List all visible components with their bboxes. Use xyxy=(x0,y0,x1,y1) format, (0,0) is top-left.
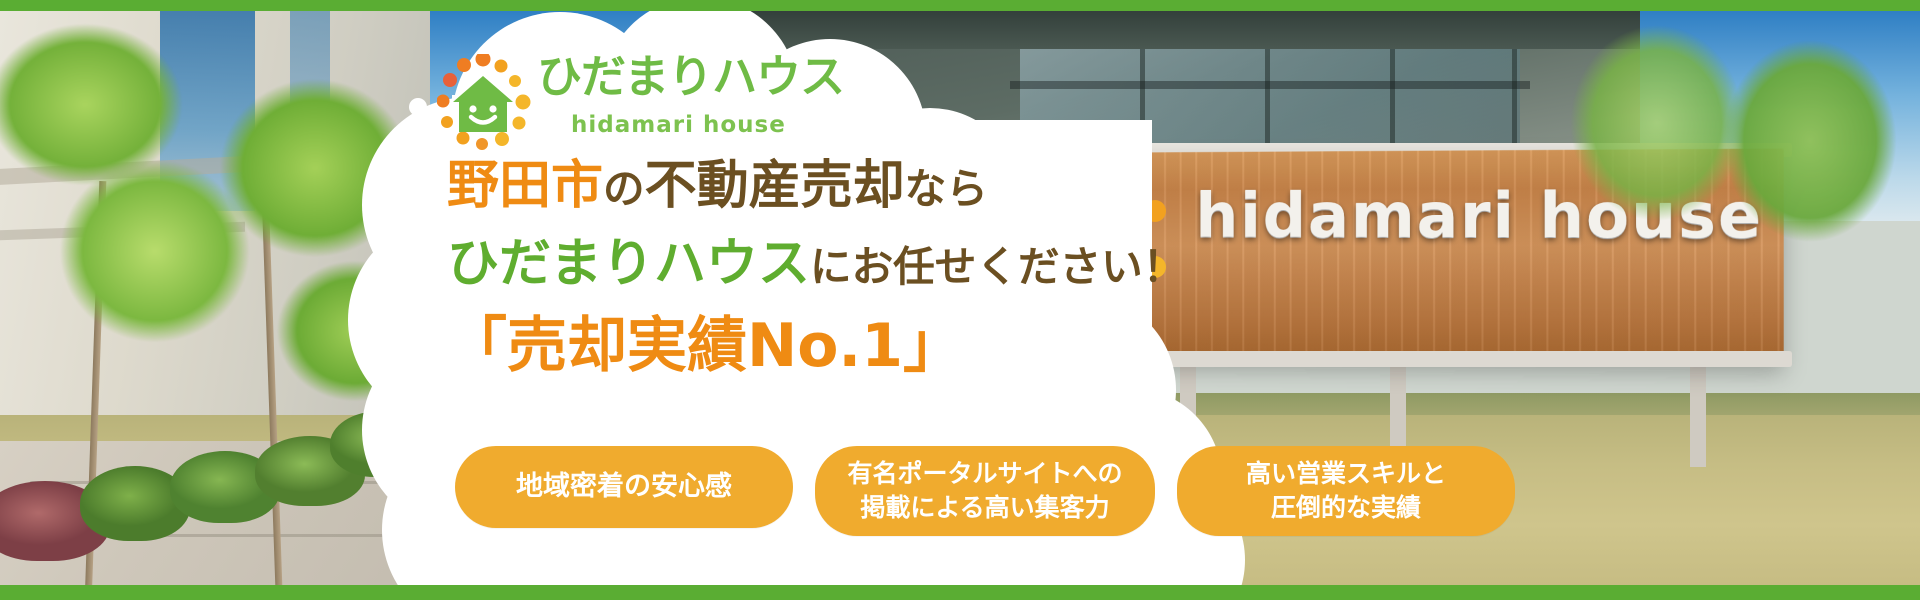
headline-brand: ひだまりハウス xyxy=(447,234,810,294)
top-green-rule xyxy=(0,0,1920,11)
bottom-green-rule xyxy=(0,585,1920,600)
headline-keyword: 不動産売却 xyxy=(645,156,905,216)
headline-line-2: ひだまりハウスにお任せください！ xyxy=(447,238,1507,290)
brand-logo[interactable]: ひだまりハウス hidamari house xyxy=(437,48,767,156)
logo-wordmark-ja: ひだまりハウス xyxy=(537,54,844,99)
headline-block: 野田市の不動産売却なら ひだまりハウスにお任せください！ 「売却実績No.1」 xyxy=(447,160,1507,376)
badge-line: 有名ポータルサイトへの xyxy=(847,457,1122,491)
headline-line-1: 野田市の不動産売却なら xyxy=(447,160,1507,212)
sun-house-icon xyxy=(437,54,533,150)
hero-content: ひだまりハウス hidamari house 野田市の不動産売却なら ひだまりハ… xyxy=(0,0,1920,600)
badge-line: 圧倒的な実績 xyxy=(1246,491,1446,525)
headline-city: 野田市 xyxy=(447,156,603,216)
logo-wordmark-en: hidamari house xyxy=(571,112,786,138)
badge-portal-exposure[interactable]: 有名ポータルサイトへの 掲載による高い集客力 xyxy=(815,446,1155,536)
badge-sales-skill[interactable]: 高い営業スキルと 圧倒的な実績 xyxy=(1177,446,1515,536)
badge-line: 地域密着の安心感 xyxy=(516,469,732,505)
hero-banner: hidamari house xyxy=(0,0,1920,600)
headline-particle-nara: なら xyxy=(905,164,988,213)
headline-particle-no: の xyxy=(603,164,645,213)
badge-row: 地域密着の安心感 有名ポータルサイトへの 掲載による高い集客力 高い営業スキルと… xyxy=(455,446,1515,536)
badge-line: 高い営業スキルと xyxy=(1246,457,1446,491)
headline-line-3: 「売却実績No.1」 xyxy=(447,316,1507,376)
badge-line: 掲載による高い集客力 xyxy=(847,491,1122,525)
badge-local-trust[interactable]: 地域密着の安心感 xyxy=(455,446,793,528)
headline-cta-tail: にお任せください！ xyxy=(810,242,1184,291)
